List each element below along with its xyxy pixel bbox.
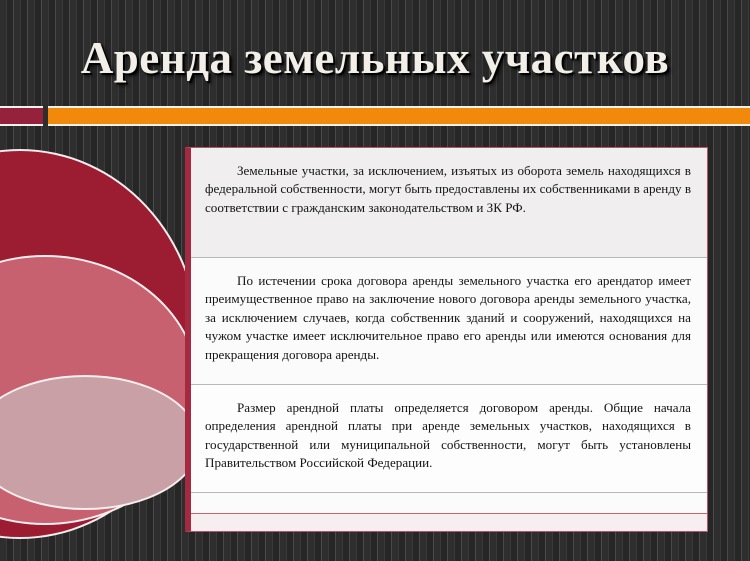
header-accent-square [0, 106, 43, 126]
text-block-3: Размер арендной платы определяется догов… [191, 385, 707, 493]
empty-row-2 [191, 514, 707, 531]
header-accent-bar [48, 106, 750, 126]
title-area: Аренда земельных участков [0, 18, 750, 98]
empty-row-1 [191, 493, 707, 514]
page-title: Аренда земельных участков [81, 32, 669, 84]
text-block-2: По истечении срока договора аренды земел… [191, 258, 707, 385]
content-panel: Земельные участки, за исключением, изъят… [185, 147, 708, 532]
presentation-slide: Аренда земельных участков Земельные учас… [0, 0, 750, 561]
text-block-1: Земельные участки, за исключением, изъят… [191, 148, 707, 258]
